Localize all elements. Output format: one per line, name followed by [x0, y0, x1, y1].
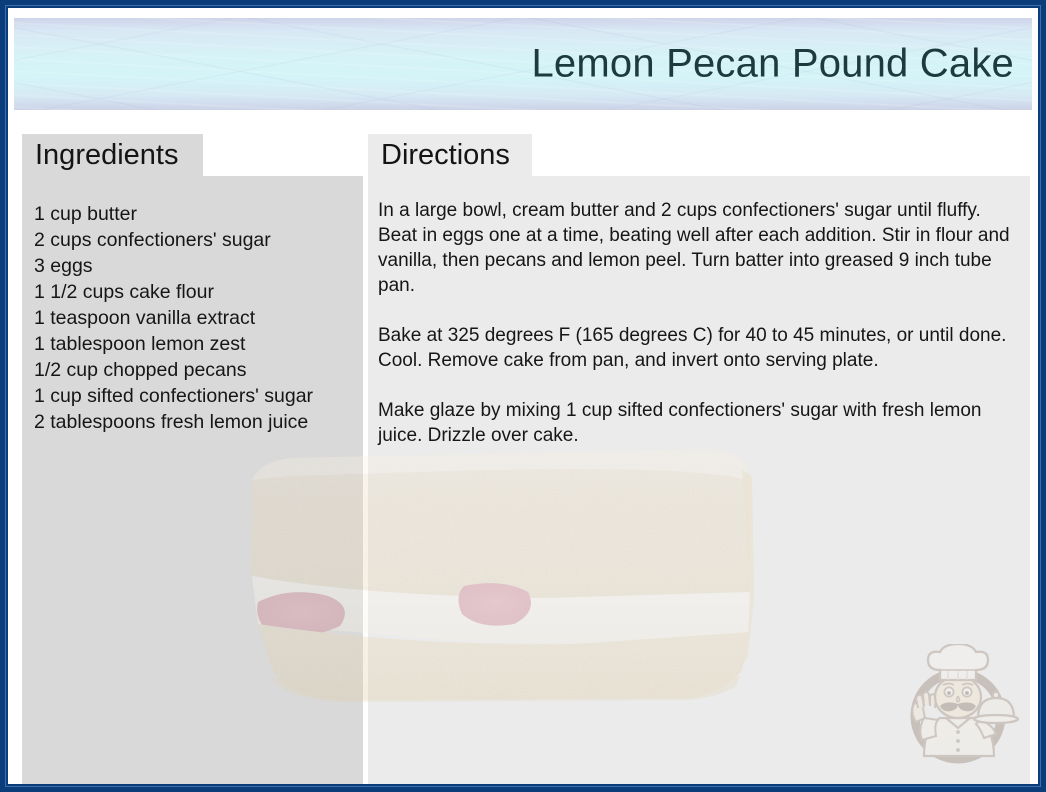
ingredients-section-header: Ingredients	[22, 134, 203, 176]
ingredient-item: 1 teaspoon vanilla extract	[34, 305, 353, 331]
direction-paragraph: Bake at 325 degrees F (165 degrees C) fo…	[378, 323, 1014, 373]
page-title: Lemon Pecan Pound Cake	[531, 42, 1014, 87]
directions-body: In a large bowl, cream butter and 2 cups…	[368, 176, 1030, 448]
direction-paragraph: Make glaze by mixing 1 cup sifted confec…	[378, 398, 1014, 448]
ingredient-item: 1 1/2 cups cake flour	[34, 279, 353, 305]
ingredients-list: 1 cup butter 2 cups confectioners' sugar…	[22, 176, 363, 435]
direction-paragraph: In a large bowl, cream butter and 2 cups…	[378, 198, 1014, 298]
directions-heading-label: Directions	[381, 139, 510, 172]
recipe-card-page: Lemon Pecan Pound Cake 1 cup butter 2 cu…	[8, 8, 1038, 784]
ingredient-item: 1 cup sifted confectioners' sugar	[34, 383, 353, 409]
ingredient-item: 2 cups confectioners' sugar	[34, 227, 353, 253]
ingredient-item: 1 tablespoon lemon zest	[34, 331, 353, 357]
directions-panel: In a large bowl, cream butter and 2 cups…	[368, 176, 1030, 784]
ingredient-item: 1 cup butter	[34, 201, 353, 227]
ingredient-item: 2 tablespoons fresh lemon juice	[34, 409, 353, 435]
ingredient-item: 1/2 cup chopped pecans	[34, 357, 353, 383]
recipe-card-frame: Lemon Pecan Pound Cake 1 cup butter 2 cu…	[0, 0, 1046, 792]
ingredient-item: 3 eggs	[34, 253, 353, 279]
title-banner: Lemon Pecan Pound Cake	[14, 18, 1032, 110]
ingredients-panel: 1 cup butter 2 cups confectioners' sugar…	[22, 176, 363, 784]
directions-section-header: Directions	[368, 134, 532, 176]
ingredients-heading-label: Ingredients	[35, 139, 179, 172]
